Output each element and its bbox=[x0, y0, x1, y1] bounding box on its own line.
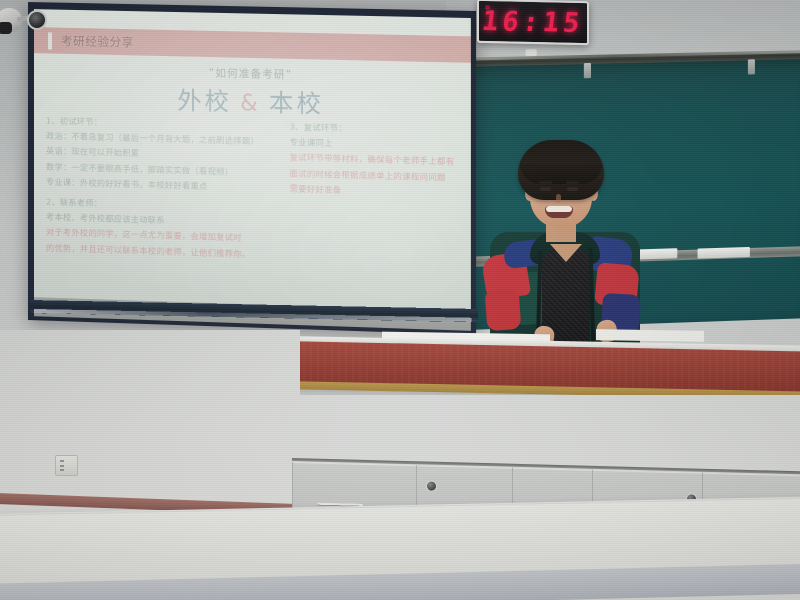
jacket-panel-red-lower-left bbox=[485, 289, 522, 331]
podium-paper-right bbox=[596, 329, 704, 342]
teeth bbox=[546, 206, 572, 212]
camera-body bbox=[27, 10, 47, 30]
slide-body: 1、初试环节： 政治：不着急复习（最后一个月背大题，之前刷选择题） 英语：现在可… bbox=[34, 113, 471, 307]
digital-wall-clock: 16:15 bbox=[477, 0, 589, 45]
blackboard-clip bbox=[748, 59, 755, 74]
slide-title-left: 外校 bbox=[177, 87, 232, 117]
slide-title-right: 本校 bbox=[269, 89, 324, 119]
eyebrow-left bbox=[539, 181, 552, 184]
cabinet-lock-knob[interactable] bbox=[427, 482, 436, 491]
projection-screen-surface: 考研经验分享 “如何准备考研” 外校&本校 1、初试环节： 政治：不着急复习（最… bbox=[34, 9, 471, 312]
eye-left bbox=[540, 187, 551, 192]
projection-screen: 考研经验分享 “如何准备考研” 外校&本校 1、初试环节： 政治：不着急复习（最… bbox=[28, 2, 476, 335]
classroom-photo: 考研经验分享 “如何准备考研” 外校&本校 1、初试环节： 政治：不着急复习（最… bbox=[0, 0, 800, 600]
clock-time-display: 16:15 bbox=[481, 7, 586, 36]
blackboard-clip bbox=[584, 63, 591, 78]
slide-header-bar: 考研经验分享 bbox=[34, 27, 471, 63]
eyebrow-right bbox=[566, 181, 579, 184]
slide-right-column: 3、复试环节： 专业课同上 复试环节带够材料，确保每个老师手上都有 面试的时候会… bbox=[285, 119, 470, 307]
presenter bbox=[470, 140, 660, 355]
camera-lens bbox=[0, 22, 12, 34]
wall-outlet bbox=[55, 455, 78, 476]
chalk-tray-item bbox=[698, 247, 750, 259]
slide-left-column: 1、初试环节： 政治：不着急复习（最后一个月背大题，之前刷选择题） 英语：现在可… bbox=[34, 113, 285, 301]
slide-header-title: 考研经验分享 bbox=[61, 33, 134, 51]
eye-right bbox=[567, 187, 578, 192]
nose bbox=[556, 194, 561, 203]
presentation-slide: 考研经验分享 “如何准备考研” 外校&本校 1、初试环节： 政治：不着急复习（最… bbox=[34, 9, 471, 312]
rail-nub bbox=[526, 49, 537, 56]
surveillance-camera bbox=[0, 4, 52, 38]
mouth bbox=[545, 206, 573, 218]
hair-fringe bbox=[520, 164, 602, 184]
slide-title-ampersand: & bbox=[232, 91, 269, 117]
